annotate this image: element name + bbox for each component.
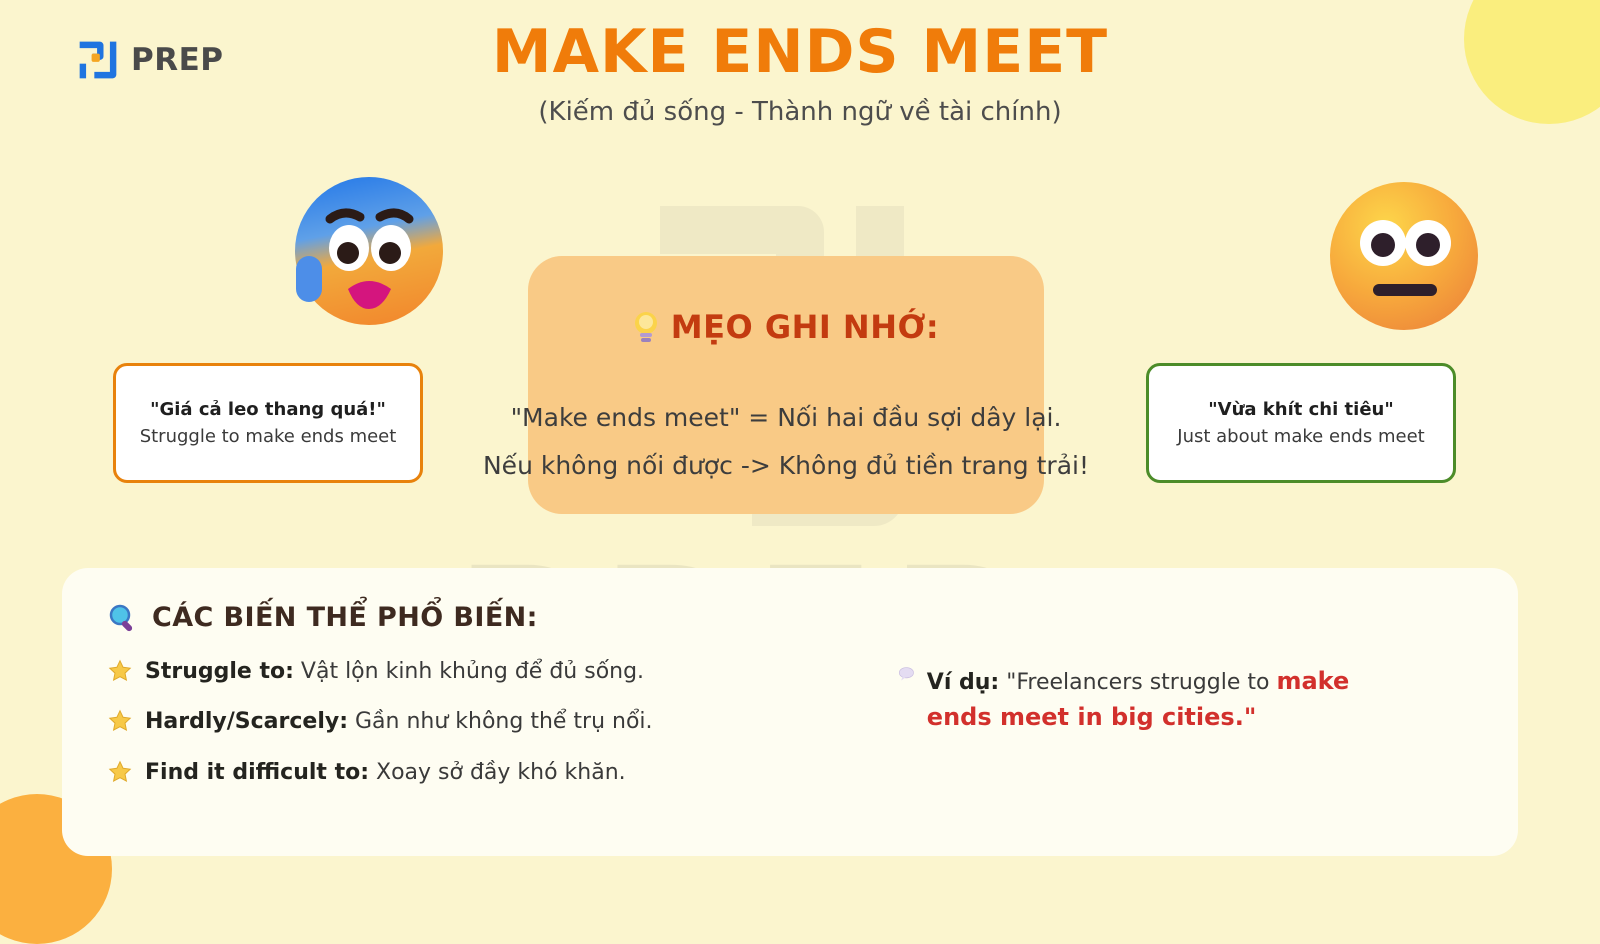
list-item-text: Hardly/Scarcely: Gần như không thể trụ n… <box>145 709 653 735</box>
example-text: Ví dụ: "Freelancers struggle to make end… <box>927 663 1418 736</box>
example-body: "Freelancers struggle to <box>999 670 1276 695</box>
variants-heading-row: CÁC BIẾN THỂ PHỔ BIẾN: <box>108 602 1472 633</box>
anxious-face-with-sweat-emoji <box>290 172 448 330</box>
tip-heading: MẸO GHI NHỚ: <box>671 308 939 346</box>
page-title: MAKE ENDS MEET <box>0 18 1600 87</box>
list-item: Hardly/Scarcely: Gần như không thể trụ n… <box>108 709 898 735</box>
variant-term: Find it difficult to: <box>145 760 369 785</box>
variant-list: Struggle to: Vật lộn kinh khủng để đủ số… <box>108 659 898 810</box>
example-label: Ví dụ: <box>927 670 999 695</box>
panel-columns: Struggle to: Vật lộn kinh khủng để đủ số… <box>108 659 1472 810</box>
list-item: Find it difficult to: Xoay sở đầy khó kh… <box>108 760 898 786</box>
list-item-text: Find it difficult to: Xoay sở đầy khó kh… <box>145 760 626 786</box>
neutral-face-emoji <box>1325 177 1483 335</box>
speech-balloon-emoji <box>898 663 915 685</box>
variant-term: Struggle to: <box>145 659 294 684</box>
page-subtitle: (Kiếm đủ sống - Thành ngữ về tài chính) <box>0 97 1600 127</box>
list-item-text: Struggle to: Vật lộn kinh khủng để đủ số… <box>145 659 644 685</box>
variant-definition: Xoay sở đầy khó khăn. <box>369 760 626 785</box>
quote-card-left: "Giá cả leo thang quá!" Struggle to make… <box>113 363 423 483</box>
card-right-quote: "Vừa khít chi tiêu" <box>1208 399 1393 420</box>
tip-heading-row: MẸO GHI NHỚ: <box>554 308 1018 346</box>
variant-term: Hardly/Scarcely: <box>145 709 348 734</box>
star-emoji <box>108 760 132 784</box>
magnifying-glass-emoji <box>108 603 138 633</box>
list-item: Struggle to: Vật lộn kinh khủng để đủ số… <box>108 659 898 685</box>
quote-card-right: "Vừa khít chi tiêu" Just about make ends… <box>1146 363 1456 483</box>
variants-heading: CÁC BIẾN THỂ PHỔ BIẾN: <box>152 602 538 633</box>
variants-panel: CÁC BIẾN THỂ PHỔ BIẾN: Struggle to: Vật … <box>62 568 1518 856</box>
variant-definition: Vật lộn kinh khủng để đủ sống. <box>294 659 644 684</box>
tip-line-2: Nếu không nối được -> Không đủ tiền tran… <box>448 450 1124 481</box>
memory-tip-box: MẸO GHI NHỚ: "Make ends meet" = Nối hai … <box>528 256 1044 514</box>
example-block: Ví dụ: "Freelancers struggle to make end… <box>898 659 1418 810</box>
star-emoji <box>108 659 132 683</box>
tip-line-1: "Make ends meet" = Nối hai đầu sợi dây l… <box>448 402 1124 433</box>
title-block: MAKE ENDS MEET (Kiếm đủ sống - Thành ngữ… <box>0 18 1600 127</box>
lightbulb-emoji <box>633 310 659 344</box>
star-emoji <box>108 709 132 733</box>
card-right-english: Just about make ends meet <box>1177 426 1424 447</box>
card-left-english: Struggle to make ends meet <box>140 426 397 447</box>
card-left-quote: "Giá cả leo thang quá!" <box>150 399 386 420</box>
variant-definition: Gần như không thể trụ nổi. <box>348 709 653 734</box>
